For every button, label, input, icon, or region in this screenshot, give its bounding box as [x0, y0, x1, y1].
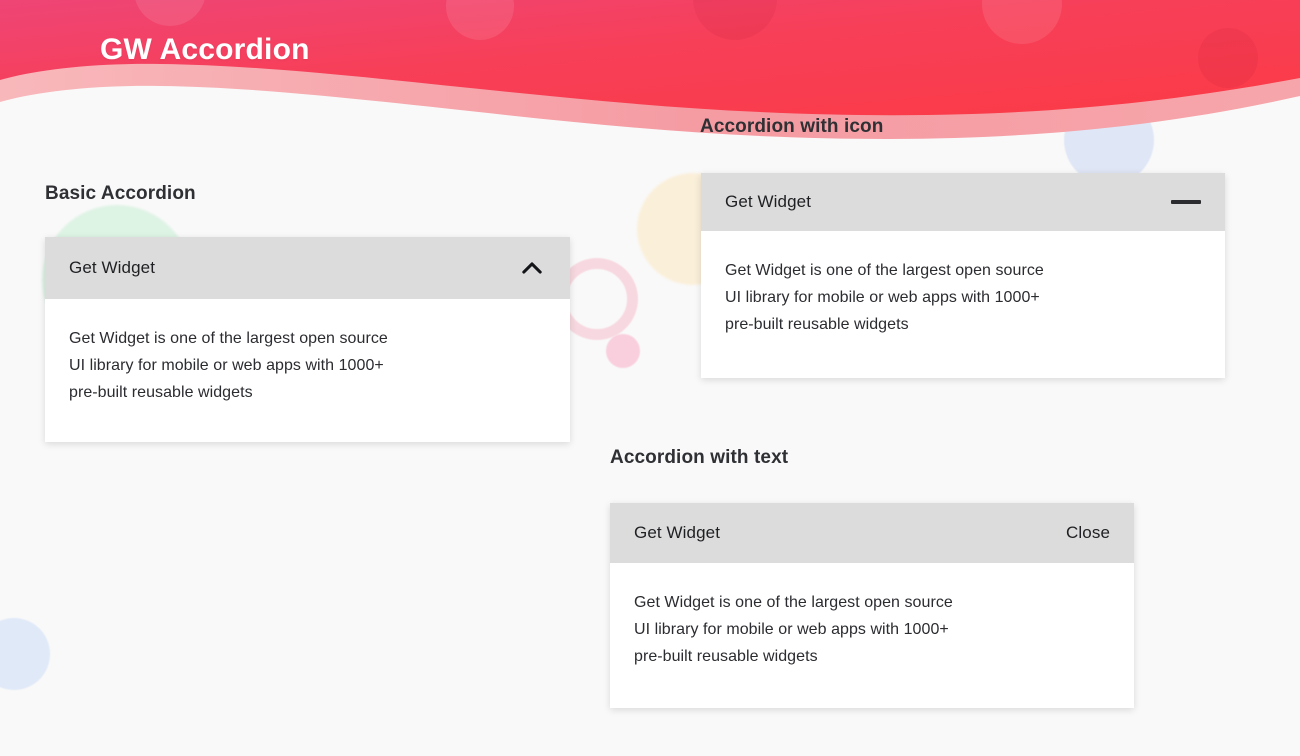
accordion-with-icon-header[interactable]: Get Widget	[701, 173, 1225, 231]
accordion-with-text-body-line-3: pre-built reusable widgets	[634, 643, 1110, 670]
decorative-blue-circle-bottom-left	[0, 618, 50, 690]
section-heading-with-icon: Accordion with icon	[700, 116, 883, 138]
accordion-basic-body: Get Widget is one of the largest open so…	[45, 299, 570, 406]
accordion-basic: Get Widget Get Widget is one of the larg…	[45, 237, 570, 442]
accordion-with-icon-body-line-2: UI library for mobile or web apps with 1…	[725, 284, 1201, 311]
accordion-with-text-body: Get Widget is one of the largest open so…	[610, 563, 1134, 670]
accordion-with-icon-body-line-1: Get Widget is one of the largest open so…	[725, 257, 1201, 284]
accordion-with-text-body-line-2: UI library for mobile or web apps with 1…	[634, 616, 1110, 643]
decorative-pink-dot	[606, 334, 640, 368]
accordion-basic-body-line-1: Get Widget is one of the largest open so…	[69, 325, 546, 352]
section-heading-basic: Basic Accordion	[45, 183, 196, 205]
app-root: GW Accordion Basic Accordion Get Widget …	[0, 0, 1300, 756]
chevron-up-icon[interactable]	[518, 254, 546, 282]
accordion-with-text: Get Widget Close Get Widget is one of th…	[610, 503, 1134, 708]
accordion-close-button[interactable]: Close	[1066, 523, 1110, 543]
section-heading-with-text: Accordion with text	[610, 447, 788, 469]
accordion-with-icon-body: Get Widget is one of the largest open so…	[701, 231, 1225, 338]
accordion-with-icon-body-line-3: pre-built reusable widgets	[725, 311, 1201, 338]
accordion-with-icon: Get Widget Get Widget is one of the larg…	[701, 173, 1225, 378]
accordion-with-icon-title: Get Widget	[725, 192, 811, 212]
accordion-with-text-header[interactable]: Get Widget Close	[610, 503, 1134, 563]
accordion-with-text-title: Get Widget	[634, 523, 720, 543]
accordion-basic-title: Get Widget	[69, 258, 155, 278]
accordion-with-text-body-line-1: Get Widget is one of the largest open so…	[634, 589, 1110, 616]
accordion-basic-body-line-2: UI library for mobile or web apps with 1…	[69, 352, 546, 379]
minus-icon[interactable]	[1171, 200, 1201, 204]
accordion-basic-header[interactable]: Get Widget	[45, 237, 570, 299]
app-title: GW Accordion	[100, 32, 310, 68]
accordion-basic-body-line-3: pre-built reusable widgets	[69, 379, 546, 406]
header-wave-banner: GW Accordion	[0, 0, 1300, 160]
